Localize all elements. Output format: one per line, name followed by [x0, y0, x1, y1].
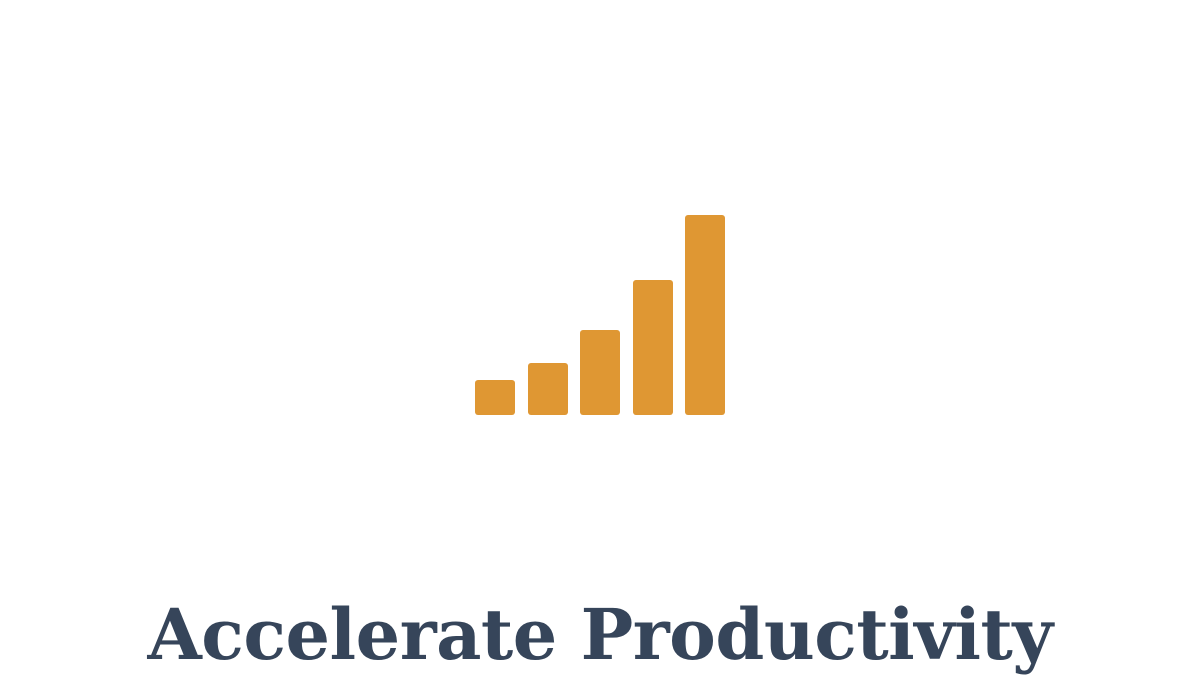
icon-container	[0, 190, 1200, 415]
chart-bar-3	[580, 330, 620, 415]
ascending-bar-chart-icon	[475, 202, 725, 415]
chart-bar-2	[528, 363, 568, 415]
feature-card: Accelerate Productivity	[0, 0, 1200, 696]
chart-bar-4	[633, 280, 673, 415]
chart-bar-5	[685, 215, 725, 415]
chart-bar-1	[475, 380, 515, 415]
page-title: Accelerate Productivity	[0, 595, 1200, 675]
